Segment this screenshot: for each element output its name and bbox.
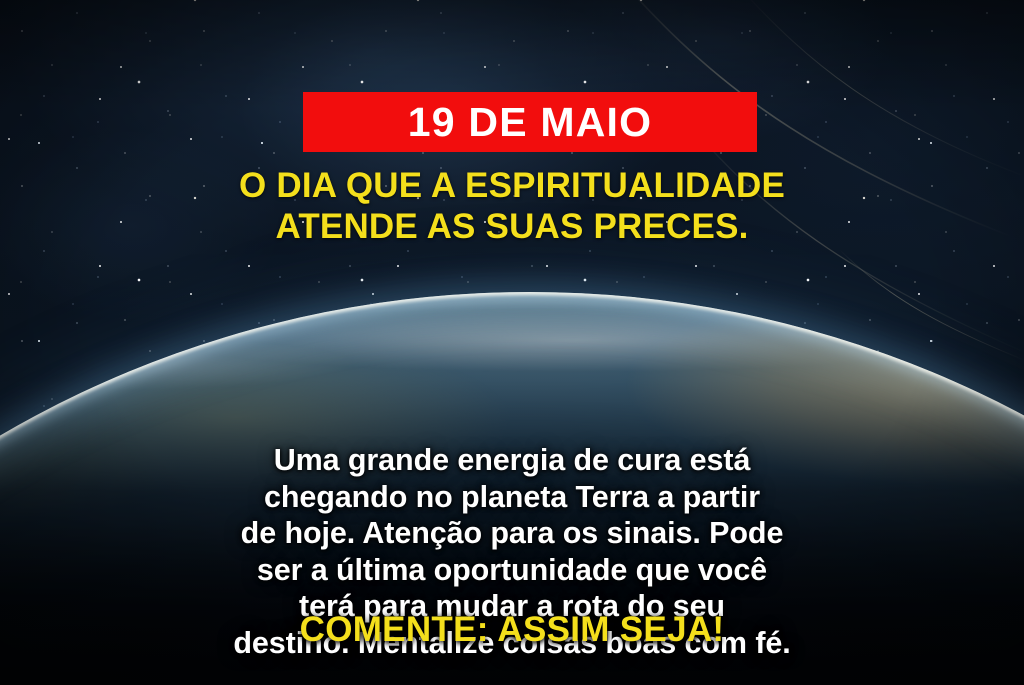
body-copy-line-1: Uma grande energia de cura está: [52, 442, 972, 479]
headline: O DIA QUE A ESPIRITUALIDADE ATENDE AS SU…: [0, 166, 1024, 247]
poster-content: 19 DE MAIO O DIA QUE A ESPIRITUALIDADE A…: [0, 0, 1024, 685]
headline-line-1: O DIA QUE A ESPIRITUALIDADE: [0, 166, 1024, 207]
poster-canvas: 19 DE MAIO O DIA QUE A ESPIRITUALIDADE A…: [0, 0, 1024, 685]
call-to-action-label: COMENTE: ASSIM SEJA!: [300, 610, 725, 649]
date-banner: 19 DE MAIO: [303, 92, 757, 152]
body-copy-line-3: de hoje. Atenção para os sinais. Pode: [52, 515, 972, 552]
body-copy-line-4: ser a última oportunidade que você: [52, 552, 972, 589]
call-to-action: COMENTE: ASSIM SEJA!: [0, 611, 1024, 650]
body-copy-line-2: chegando no planeta Terra a partir: [52, 479, 972, 516]
headline-line-2: ATENDE AS SUAS PRECES.: [0, 207, 1024, 248]
date-banner-label: 19 DE MAIO: [408, 102, 652, 143]
